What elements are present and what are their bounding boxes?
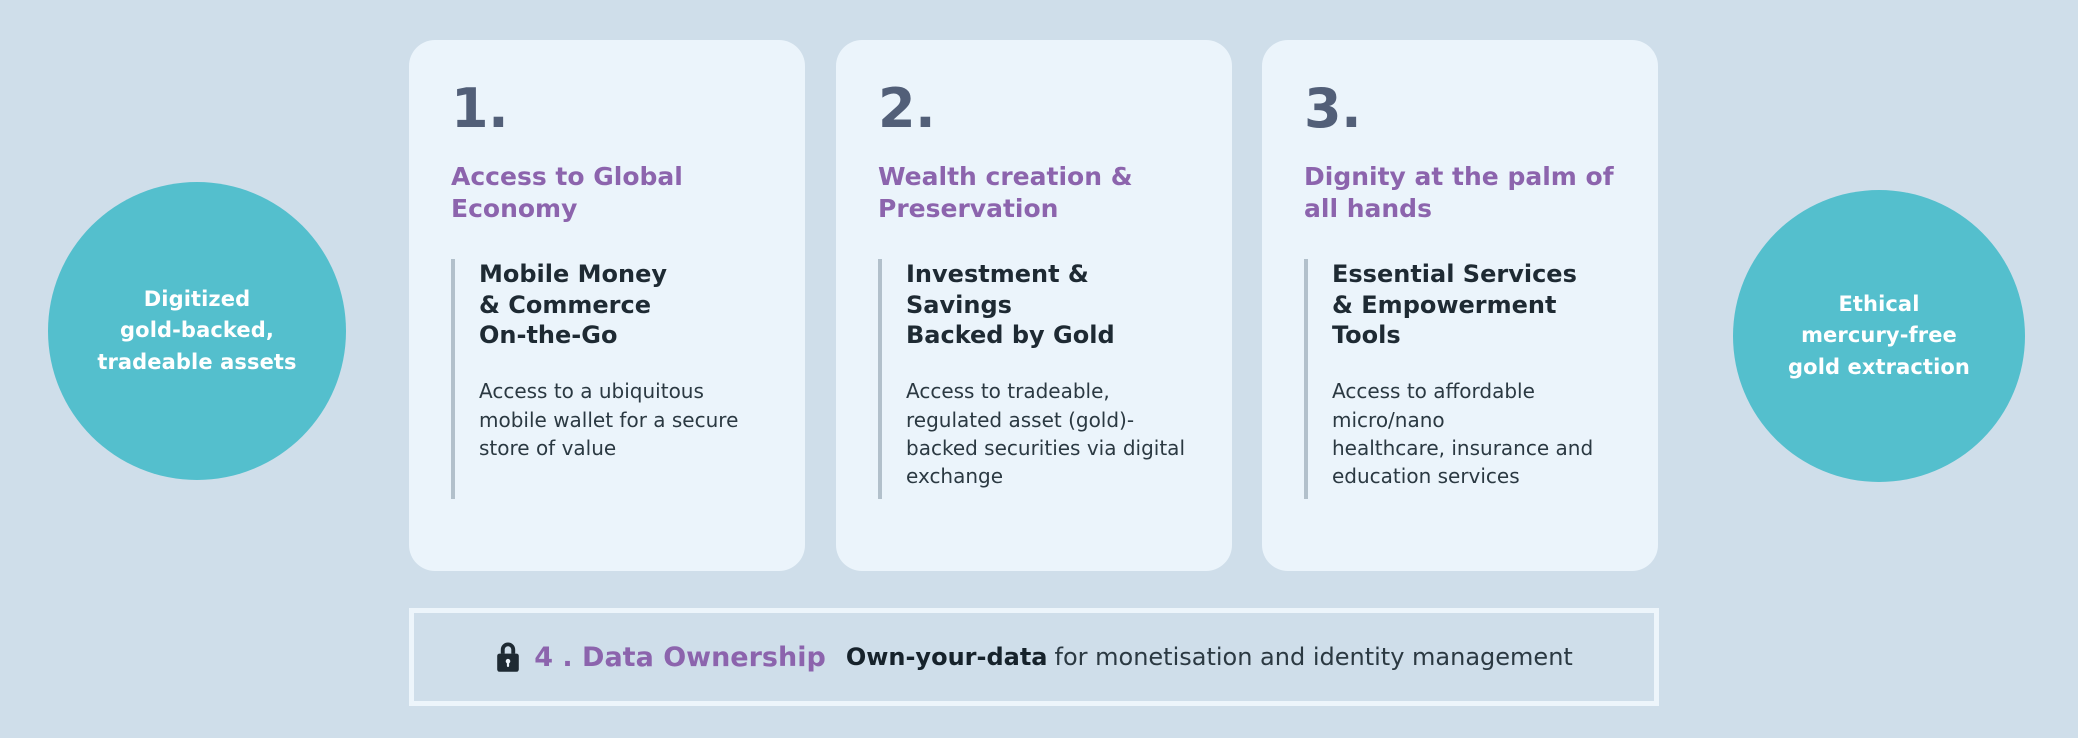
data-ownership-description: for monetisation and identity management: [1055, 643, 1573, 671]
pillar-card-1-content: 1. Access to Global Economy Mobile Money…: [409, 40, 805, 499]
digitized-gold-circle: Digitized gold-backed, tradeable assets: [48, 182, 346, 480]
pillar-card-2-heading: Wealth creation & Preservation: [878, 161, 1192, 225]
pillar-card-3-accent-body: Access to affordable micro/nano healthca…: [1332, 377, 1618, 491]
pillar-card-1-accent-body: Access to a ubiquitous mobile wallet for…: [479, 377, 765, 462]
pillar-card-2-accent-body: Access to tradeable, regulated asset (go…: [906, 377, 1192, 491]
data-ownership-number-label: 4 . Data Ownership: [534, 642, 826, 673]
pillar-card-2-number: 2.: [878, 82, 1192, 136]
infographic-canvas: Digitized gold-backed, tradeable assets …: [0, 0, 2078, 738]
pillar-card-2: 2. Wealth creation & Preservation Invest…: [836, 40, 1232, 571]
digitized-gold-circle-label: Digitized gold-backed, tradeable assets: [97, 284, 296, 377]
data-ownership-emphasis: Own-your-data: [846, 643, 1048, 671]
pillar-card-2-content: 2. Wealth creation & Preservation Invest…: [836, 40, 1232, 499]
pillar-card-2-accent-block: Investment & Savings Backed by Gold Acce…: [878, 259, 1192, 499]
pillar-card-3: 3. Dignity at the palm of all hands Esse…: [1262, 40, 1658, 571]
pillar-card-3-accent-block: Essential Services & Empowerment Tools A…: [1304, 259, 1618, 499]
ethical-extraction-circle: Ethical mercury-free gold extraction: [1733, 190, 2025, 482]
pillar-card-1-accent-block: Mobile Money & Commerce On-the-Go Access…: [451, 259, 765, 499]
data-ownership-banner: 4 . Data Ownership Own-your-data for mon…: [409, 608, 1659, 706]
pillar-card-1-heading: Access to Global Economy: [451, 161, 765, 225]
pillar-card-1: 1. Access to Global Economy Mobile Money…: [409, 40, 805, 571]
lock-icon: [495, 641, 521, 673]
pillar-card-3-heading: Dignity at the palm of all hands: [1304, 161, 1618, 225]
pillar-card-3-accent-title: Essential Services & Empowerment Tools: [1332, 259, 1618, 351]
pillar-card-3-content: 3. Dignity at the palm of all hands Esse…: [1262, 40, 1658, 499]
pillar-card-1-accent-title: Mobile Money & Commerce On-the-Go: [479, 259, 765, 351]
ethical-extraction-circle-label: Ethical mercury-free gold extraction: [1788, 289, 1970, 382]
pillar-card-2-accent-title: Investment & Savings Backed by Gold: [906, 259, 1192, 351]
pillar-card-1-number: 1.: [451, 82, 765, 136]
pillar-card-3-number: 3.: [1304, 82, 1618, 136]
